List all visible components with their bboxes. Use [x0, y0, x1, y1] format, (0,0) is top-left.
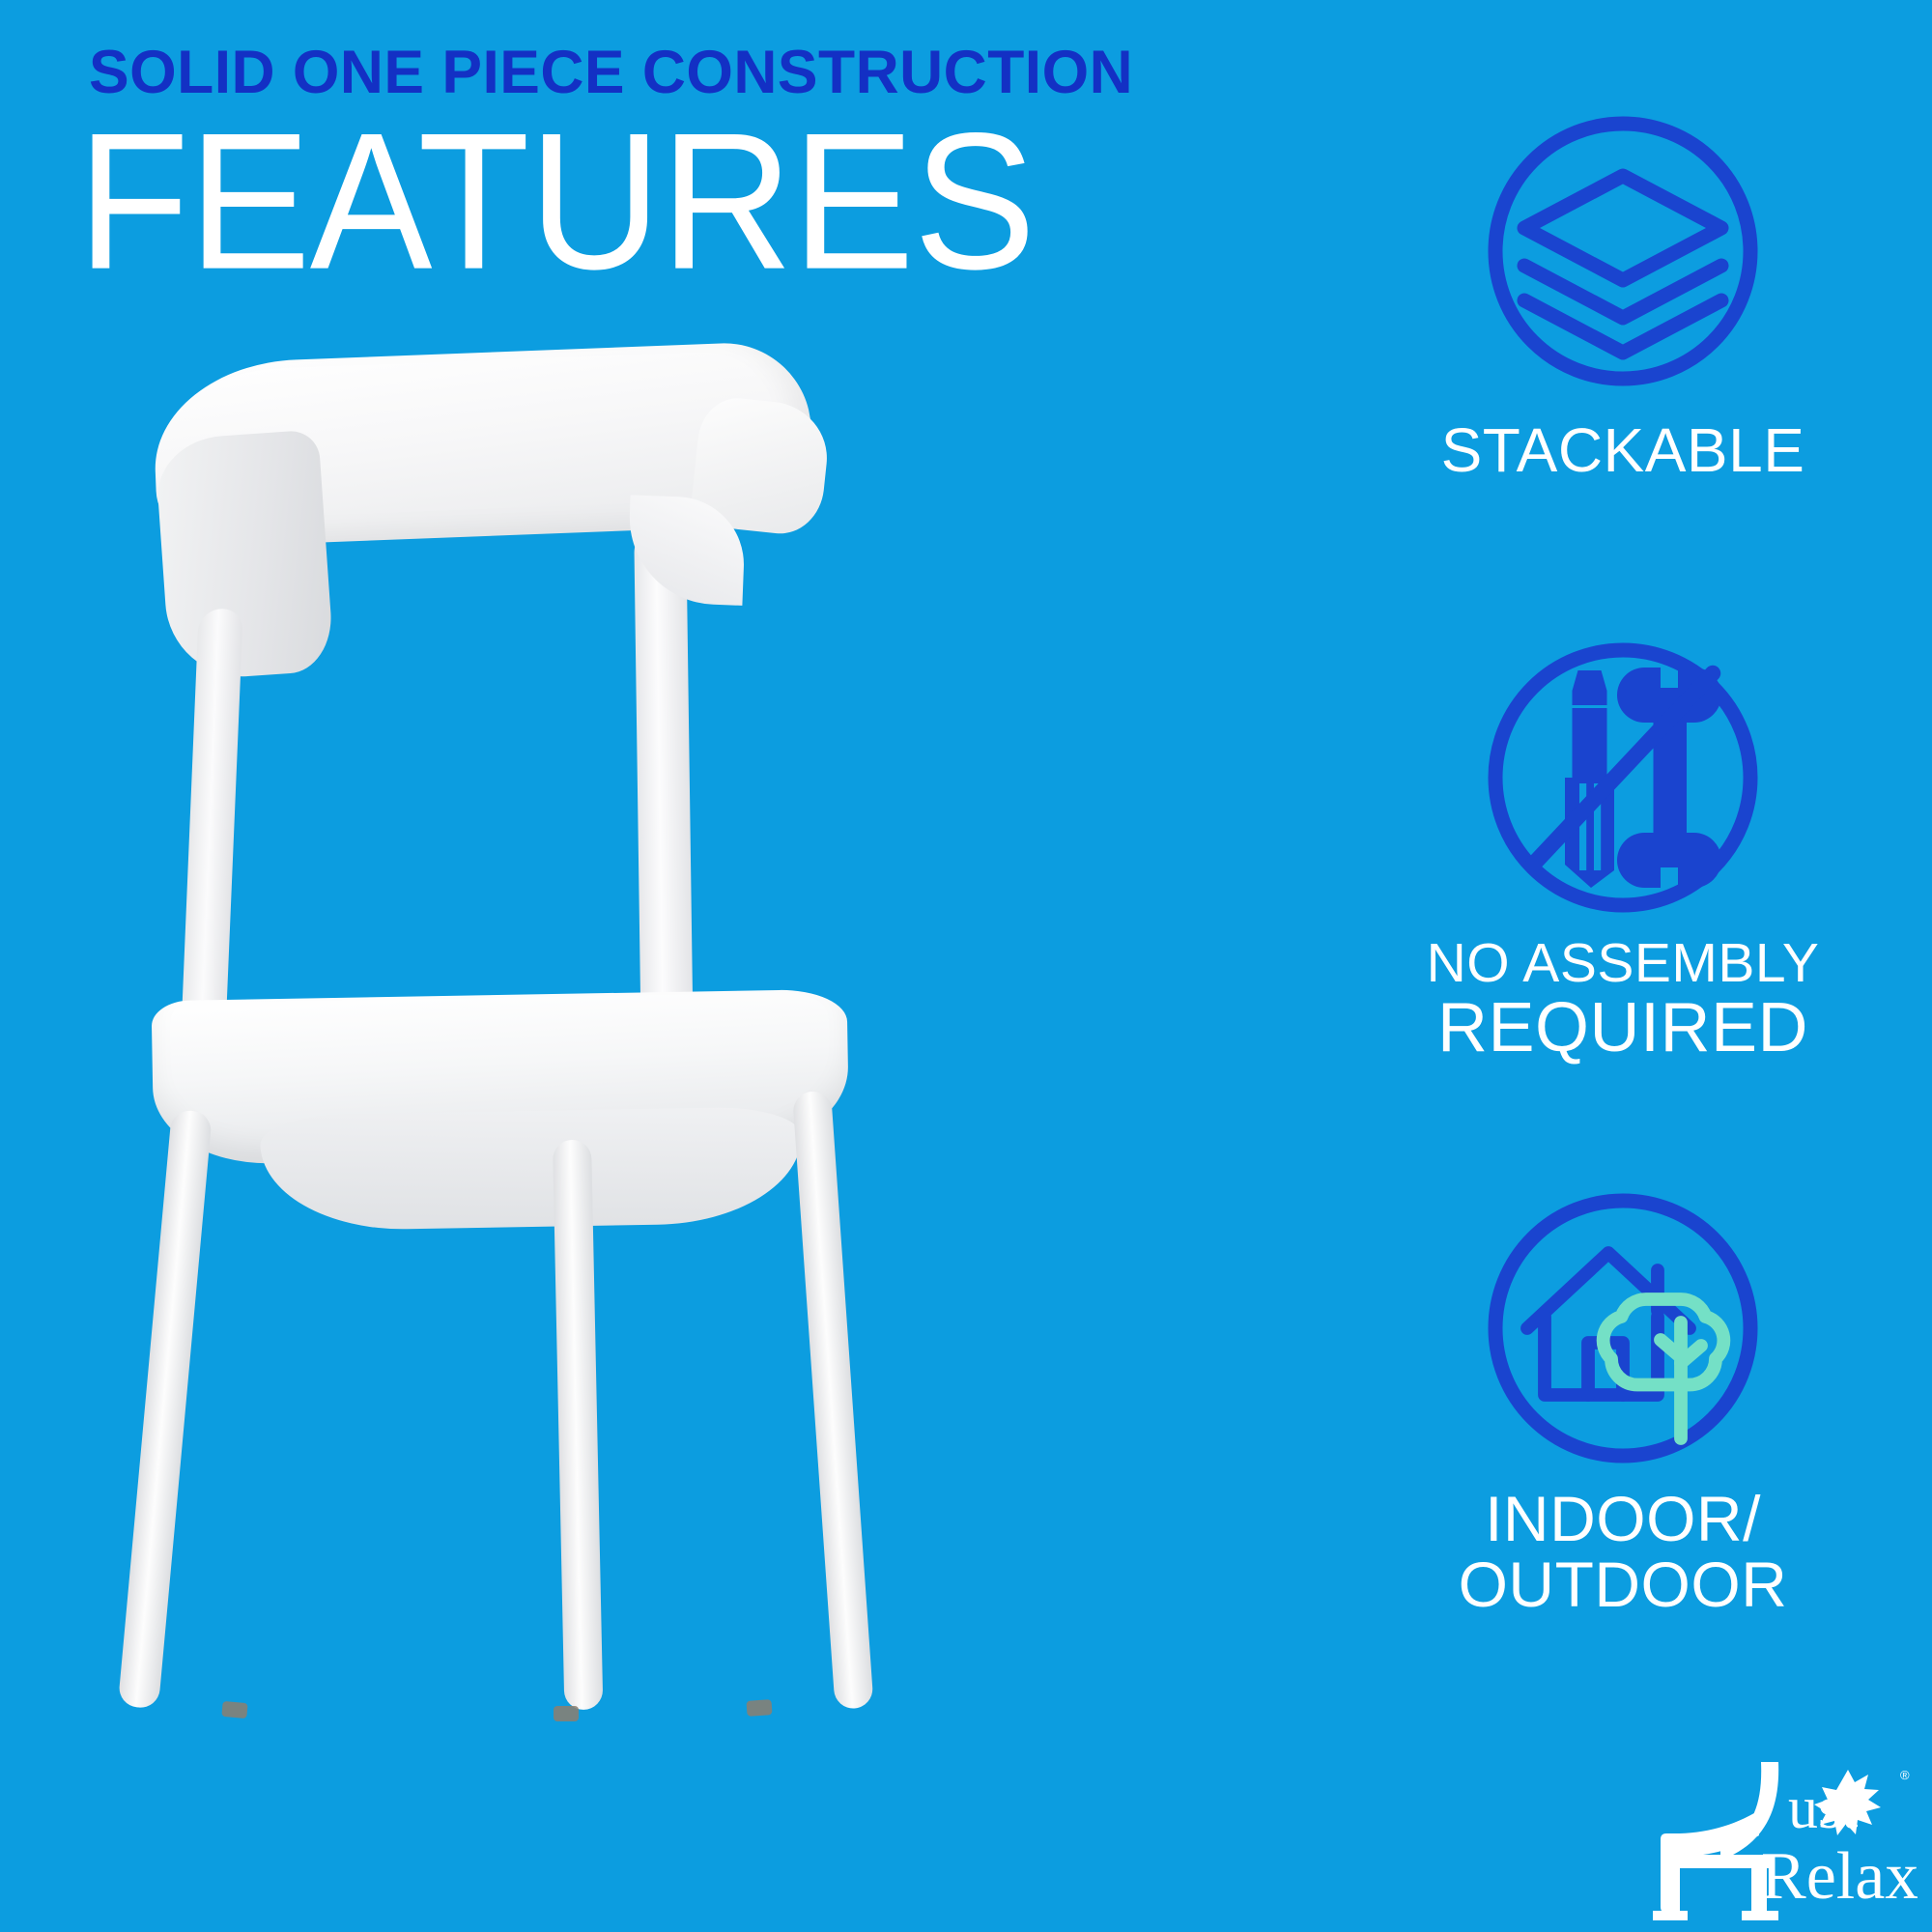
feature-item-indoor-outdoor: INDOOR/ OUTDOOR [1352, 1183, 1893, 1616]
chair-leg-back-right [792, 1091, 874, 1710]
chair-back-post-left [180, 609, 243, 1064]
chair-leg-front-left [118, 1109, 213, 1709]
feature-item-no-assembly: NO ASSEMBLY REQUIRED [1352, 633, 1893, 1063]
just-relax-logo: ust Relax ® [1599, 1758, 1918, 1927]
feature-infographic-canvas: SOLID ONE PIECE CONSTRUCTION FEATURES ST… [0, 0, 1932, 1932]
chair-foot-front-left [221, 1701, 247, 1719]
feature-label-no-assembly-line1: NO ASSEMBLY [1352, 936, 1893, 991]
feature-label-no-assembly-line2: REQUIRED [1352, 993, 1893, 1063]
feature-label-indoor: INDOOR/ [1352, 1487, 1893, 1550]
lounge-chair-j-icon [1653, 1762, 1778, 1920]
feature-label-stackable: STACKABLE [1352, 419, 1893, 481]
feature-label-outdoor: OUTDOOR [1352, 1552, 1893, 1616]
chair-seat-apron [260, 1106, 803, 1232]
no-tools-icon [1478, 633, 1768, 923]
chair-foot-back-right [746, 1699, 772, 1717]
logo-trademark: ® [1900, 1768, 1910, 1782]
logo-word-ust: ust [1788, 1776, 1858, 1841]
page-title: FEATURES [77, 104, 1035, 298]
chair-back-left-wing [154, 429, 334, 681]
chair-back-post-right [634, 526, 694, 1054]
product-image-chair [116, 319, 918, 1497]
logo-word-relax: Relax [1761, 1839, 1918, 1914]
chair-foot-front-right [554, 1706, 579, 1721]
stackable-layers-icon [1478, 106, 1768, 396]
indoor-outdoor-house-tree-icon [1478, 1183, 1768, 1473]
feature-item-stackable: STACKABLE [1352, 106, 1893, 481]
